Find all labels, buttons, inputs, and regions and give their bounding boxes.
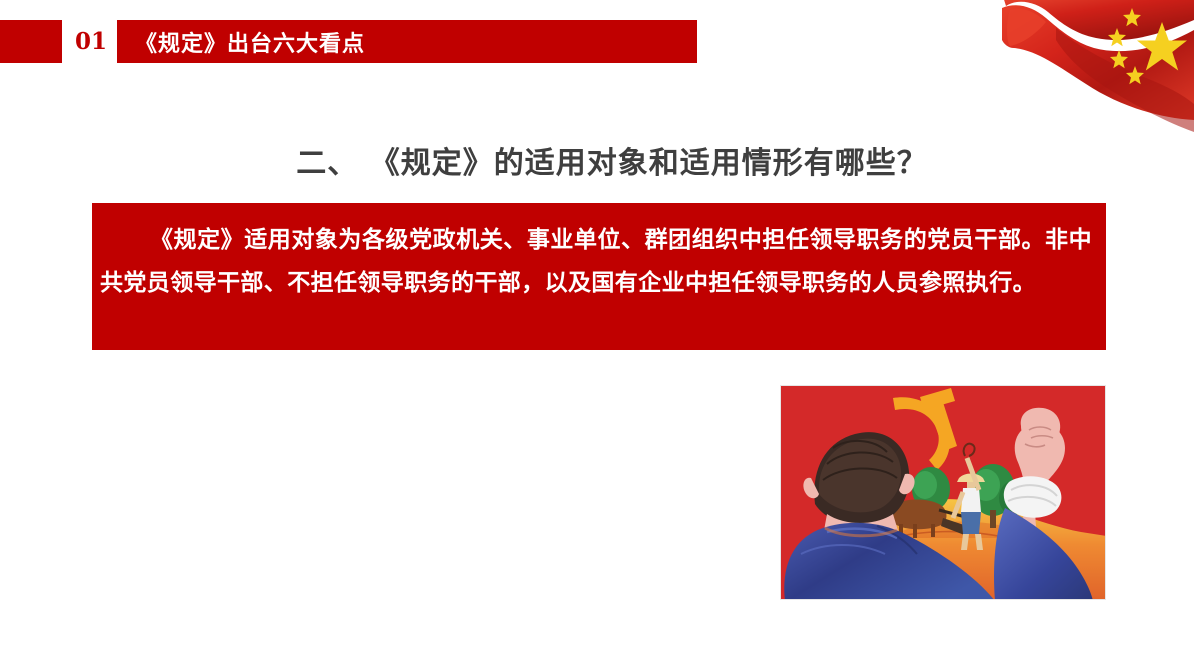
header-banner-title: 《规定》出台六大看点: [135, 26, 365, 58]
content-paragraph: 《规定》适用对象为各级党政机关、事业单位、群团组织中担任领导职务的党员干部。非中…: [100, 219, 1092, 305]
header-red-block: [0, 20, 62, 63]
header-section-number: 01: [68, 20, 114, 63]
header-band: 01 《规定》出台六大看点: [0, 20, 697, 63]
content-callout-box: 《规定》适用对象为各级党政机关、事业单位、群团组织中担任领导职务的党员干部。非中…: [92, 203, 1106, 350]
header-title-bar: 《规定》出台六大看点: [117, 20, 697, 63]
china-flag-icon: [996, 0, 1194, 140]
party-member-illustration: [780, 385, 1106, 600]
section-title: 二、 《规定》的适用对象和适用情形有哪些？: [0, 138, 1194, 182]
